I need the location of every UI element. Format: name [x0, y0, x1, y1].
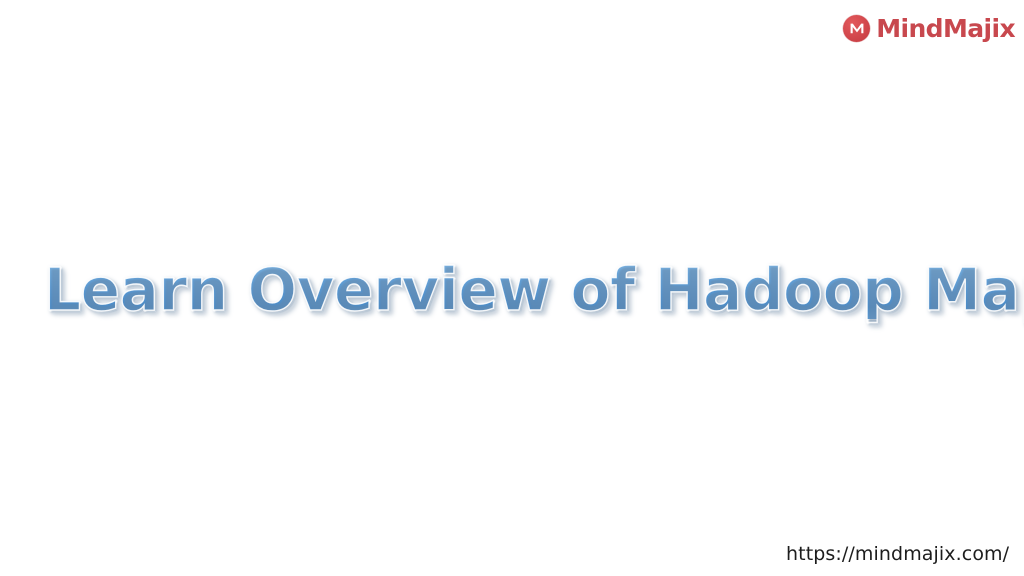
- slide-canvas: MindMajix Learn Overview of Hadoop Mapre…: [0, 0, 1024, 576]
- footer-website-url[interactable]: https://mindmajix.com/: [786, 543, 1009, 565]
- brand-logo[interactable]: MindMajix: [843, 13, 1015, 43]
- mindmajix-m-monogram-icon: [843, 15, 870, 42]
- brand-wordmark: MindMajix: [876, 16, 1015, 41]
- page-title: Learn Overview of Hadoop Mapreduce: [44, 260, 1024, 319]
- title-block: Learn Overview of Hadoop Mapreduce: [44, 247, 992, 331]
